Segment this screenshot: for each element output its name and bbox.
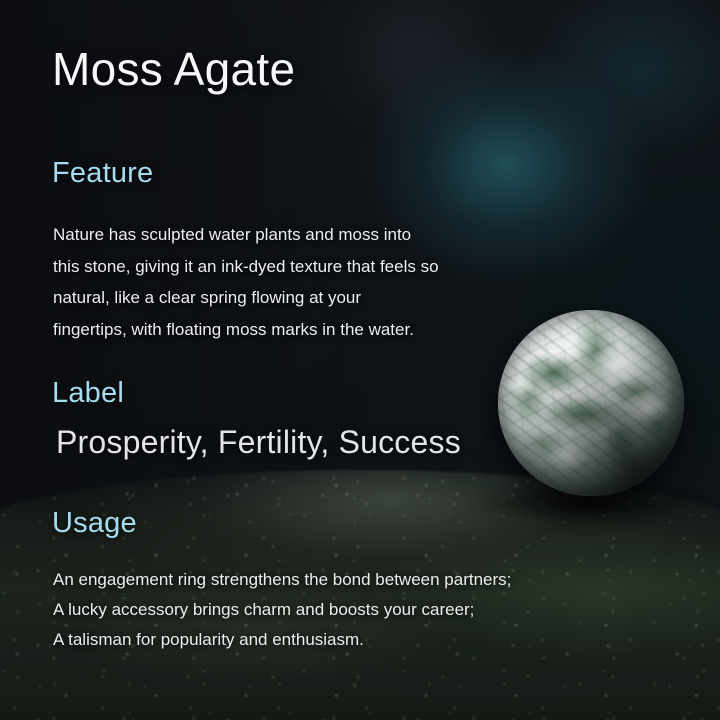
section-heading-feature: Feature [52, 157, 153, 190]
feature-line: fingertips, with floating moss marks in … [53, 314, 439, 346]
page-title: Moss Agate [52, 42, 295, 96]
section-heading-usage: Usage [52, 507, 137, 540]
label-value-text: Prosperity, Fertility, Success [56, 424, 461, 461]
feature-paragraph: Nature has sculpted water plants and mos… [53, 219, 439, 345]
usage-line: A lucky accessory brings charm and boost… [53, 595, 511, 625]
usage-line: An engagement ring strengthens the bond … [53, 565, 511, 595]
feature-line: Nature has sculpted water plants and mos… [53, 219, 439, 251]
text-content: Moss Agate Feature Nature has sculpted w… [0, 0, 720, 720]
usage-paragraph: An engagement ring strengthens the bond … [53, 565, 511, 655]
product-detail-card: Moss Agate Feature Nature has sculpted w… [0, 0, 720, 720]
feature-line: natural, like a clear spring flowing at … [53, 282, 439, 314]
feature-line: this stone, giving it an ink-dyed textur… [53, 251, 439, 283]
usage-line: A talisman for popularity and enthusiasm… [53, 625, 511, 655]
section-heading-label: Label [52, 377, 124, 410]
